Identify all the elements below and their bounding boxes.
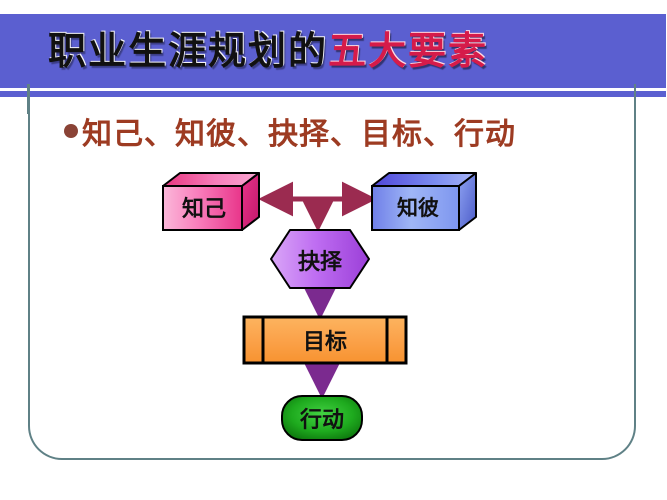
flow-node-juece[interactable]	[271, 230, 369, 288]
flow-node-zhiji[interactable]	[163, 173, 259, 230]
flow-node-mubiao[interactable]	[244, 317, 406, 363]
flow-node-xingdong[interactable]	[282, 396, 362, 440]
presentation-slide: 职业生涯规划的五大要素 知己、知彼、抉择、目标、行动	[0, 0, 667, 500]
flow-node-zhibi[interactable]	[372, 173, 476, 230]
flowchart-diagram	[0, 0, 667, 500]
